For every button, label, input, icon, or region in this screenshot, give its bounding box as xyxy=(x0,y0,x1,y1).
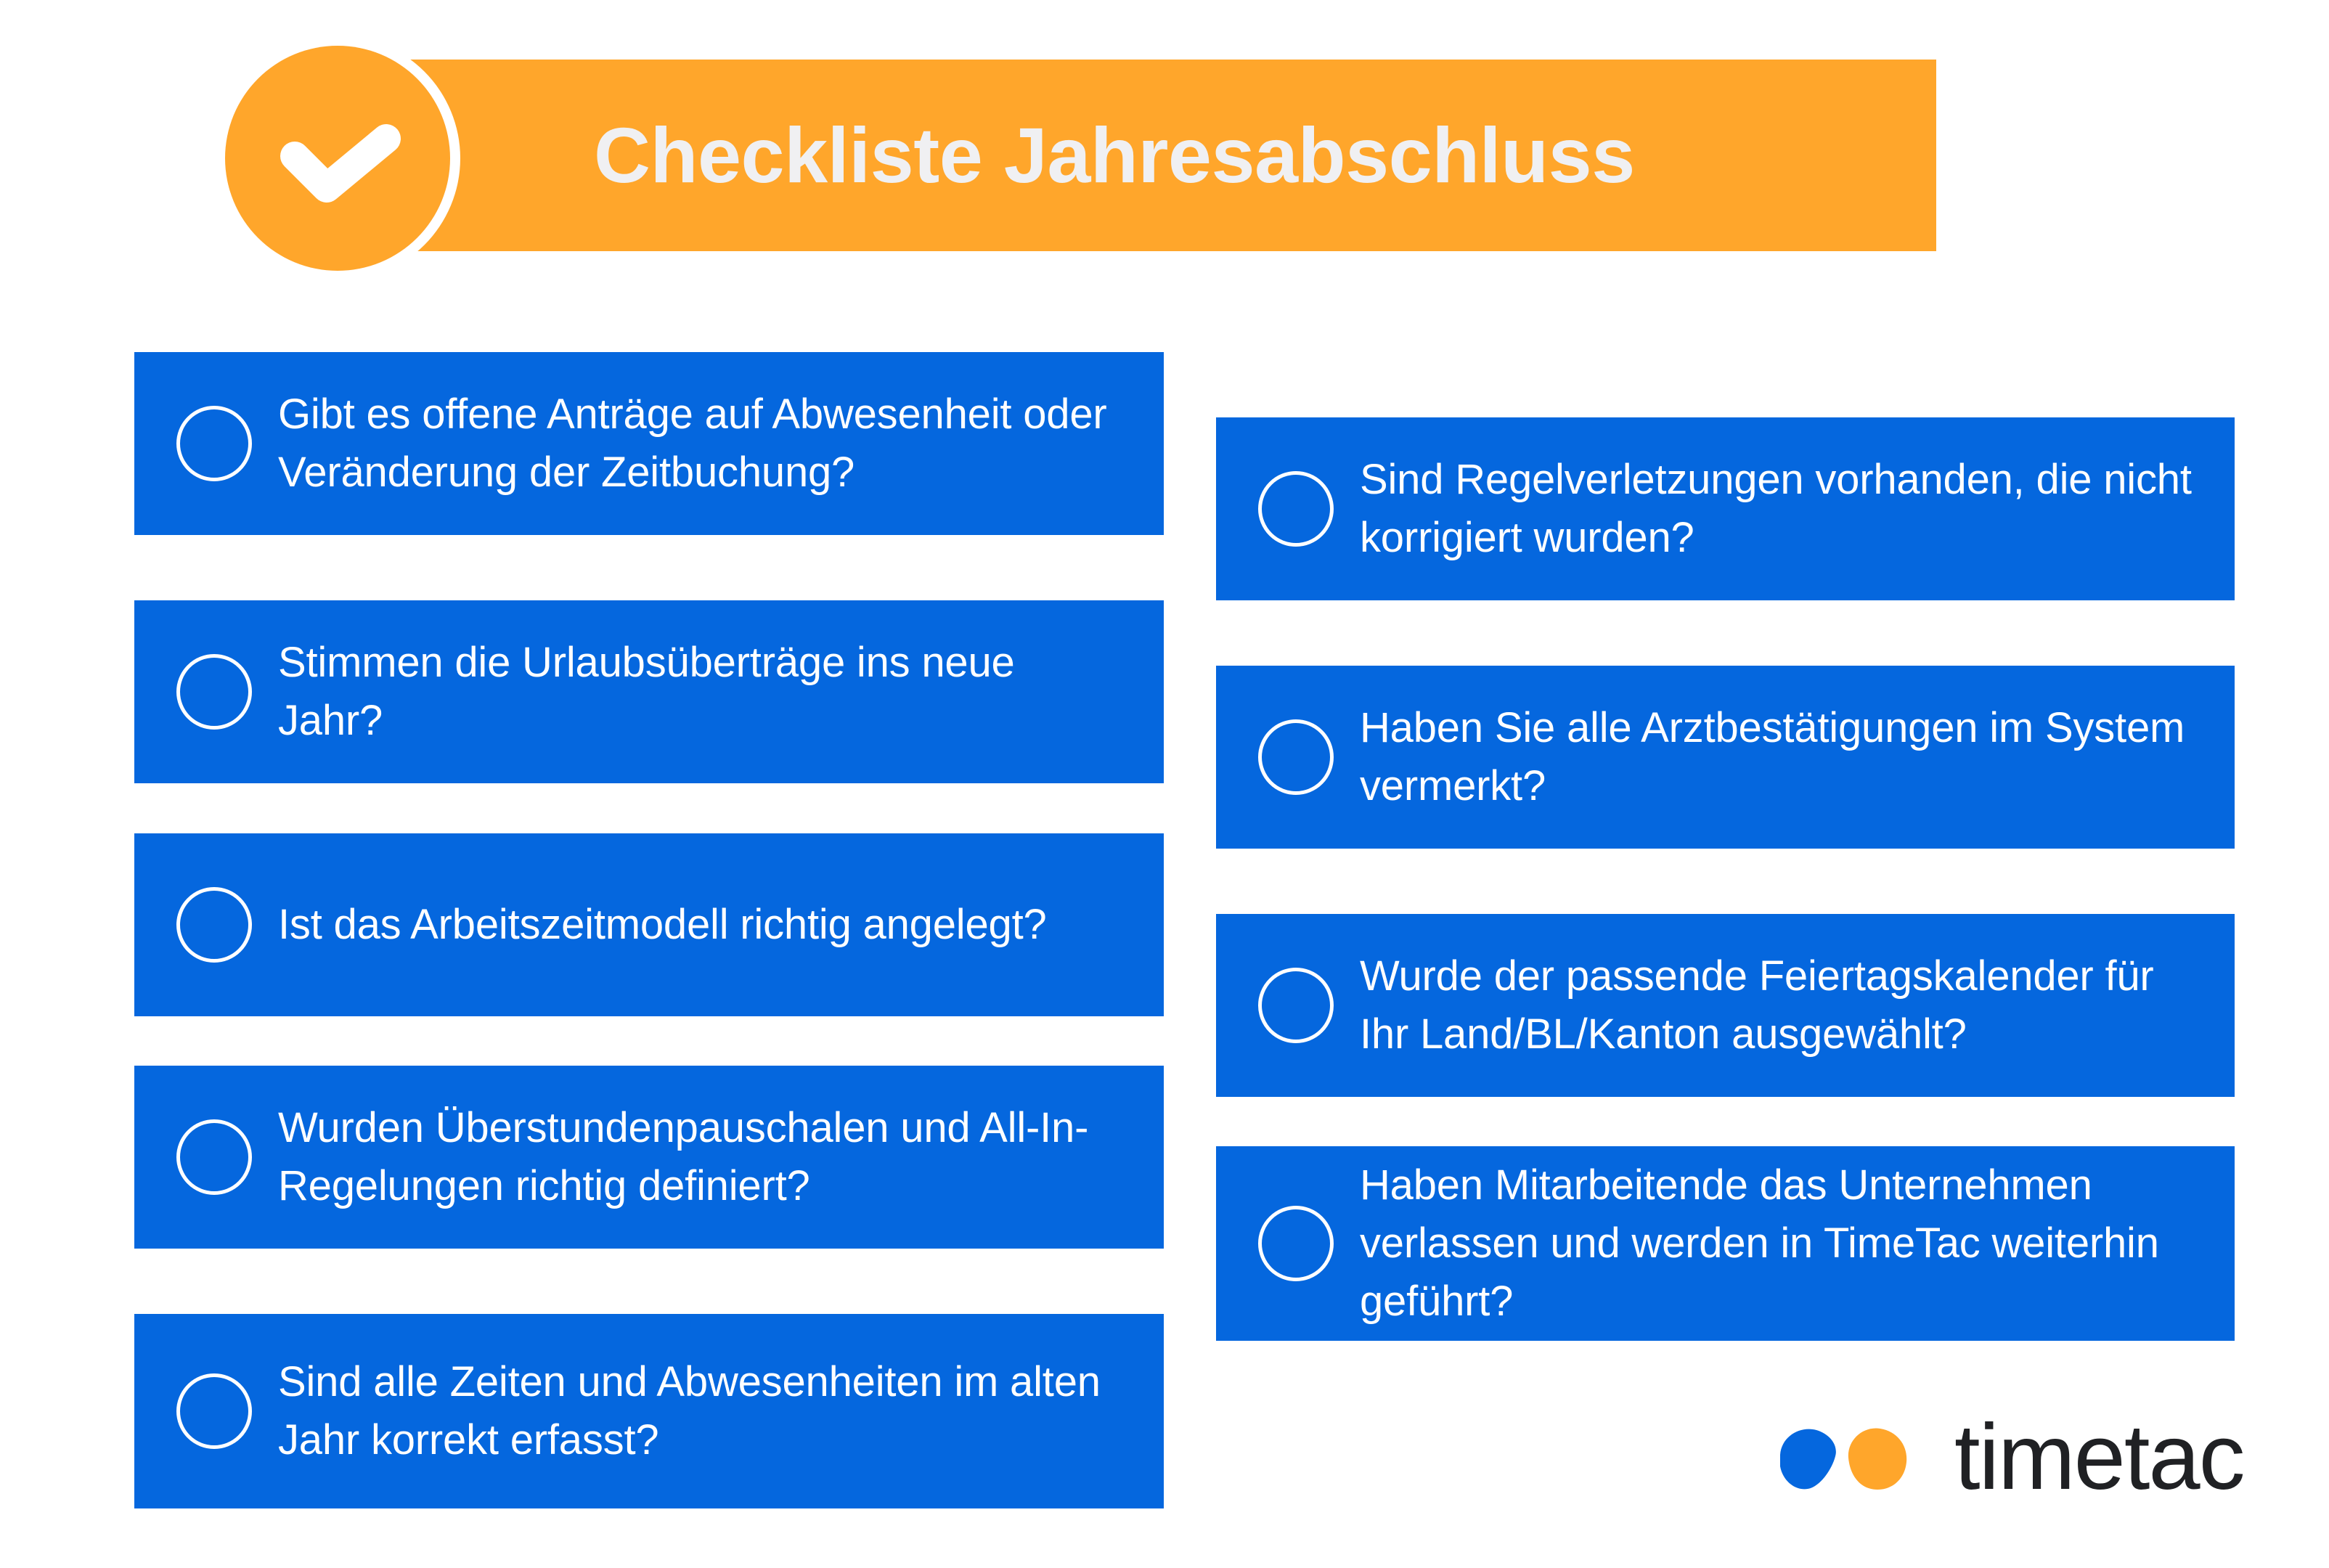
checklist-item-label: Sind alle Zeiten und Abwesenheiten im al… xyxy=(278,1353,1130,1469)
checklist-item-label: Sind Regelverletzungen vorhanden, die ni… xyxy=(1360,451,2201,567)
checklist-item[interactable]: Wurde der passende Feiertagskalender für… xyxy=(1216,914,2235,1097)
checkbox-circle-icon[interactable] xyxy=(1258,471,1334,547)
checklist-item[interactable]: Gibt es offene Anträge auf Abwesenheit o… xyxy=(134,352,1164,535)
checklist-item-label: Haben Sie alle Arztbestätigungen im Syst… xyxy=(1360,699,2201,815)
checklist-item-label: Haben Mitarbeitende das Unternehmen verl… xyxy=(1360,1156,2201,1331)
checklist-item[interactable]: Haben Mitarbeitende das Unternehmen verl… xyxy=(1216,1146,2235,1341)
checklist-item-label: Gibt es offene Anträge auf Abwesenheit o… xyxy=(278,385,1130,502)
checklist-item[interactable]: Sind Regelverletzungen vorhanden, die ni… xyxy=(1216,417,2235,600)
page-title: Checkliste Jahresabschluss xyxy=(594,60,1893,251)
checklist-item-label: Stimmen die Urlaubsüberträge ins neue Ja… xyxy=(278,634,1130,750)
checklist-item-label: Wurden Überstundenpauschalen und All-In-… xyxy=(278,1099,1130,1215)
checklist-item-label: Ist das Arbeitszeitmodell richtig angele… xyxy=(278,896,1047,954)
checklist-item[interactable]: Wurden Überstundenpauschalen und All-In-… xyxy=(134,1066,1164,1249)
checkbox-circle-icon[interactable] xyxy=(176,887,252,963)
checklist-item[interactable]: Ist das Arbeitszeitmodell richtig angele… xyxy=(134,833,1164,1016)
timetac-logo: timetac xyxy=(1771,1390,2236,1524)
checkbox-circle-icon[interactable] xyxy=(176,654,252,730)
checklist-left-column: Gibt es offene Anträge auf Abwesenheit o… xyxy=(134,352,1164,1508)
checkbox-circle-icon[interactable] xyxy=(1258,719,1334,795)
checklist-item[interactable]: Haben Sie alle Arztbestätigungen im Syst… xyxy=(1216,666,2235,849)
checkbox-circle-icon[interactable] xyxy=(1258,968,1334,1043)
checkbox-circle-icon[interactable] xyxy=(1258,1206,1334,1281)
checklist-item-label: Wurde der passende Feiertagskalender für… xyxy=(1360,947,2201,1063)
checkmark-icon xyxy=(225,46,450,271)
checklist-item[interactable]: Stimmen die Urlaubsüberträge ins neue Ja… xyxy=(134,600,1164,783)
checklist-item[interactable]: Sind alle Zeiten und Abwesenheiten im al… xyxy=(134,1314,1164,1508)
timetac-logo-mark-icon xyxy=(1771,1414,1917,1501)
header: Checkliste Jahresabschluss xyxy=(0,0,2329,290)
checkbox-circle-icon[interactable] xyxy=(176,1119,252,1195)
checkbox-circle-icon[interactable] xyxy=(176,1373,252,1449)
checkmark-badge xyxy=(225,46,450,271)
timetac-wordmark: timetac xyxy=(1954,1411,2244,1504)
checkbox-circle-icon[interactable] xyxy=(176,406,252,481)
checklist-right-column: Sind Regelverletzungen vorhanden, die ni… xyxy=(1216,417,2235,1341)
